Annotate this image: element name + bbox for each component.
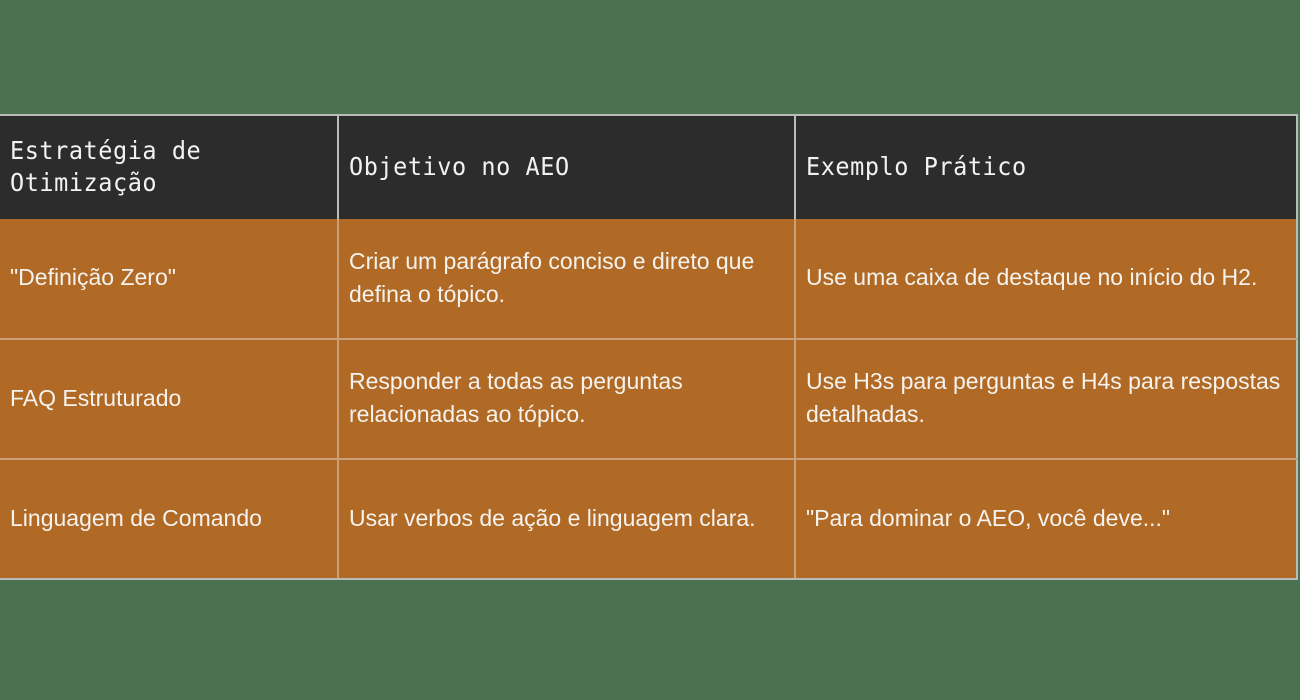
column-header-example: Exemplo Prático bbox=[795, 115, 1297, 219]
cell-strategy-text: FAQ Estruturado bbox=[10, 382, 325, 415]
cell-example: Use uma caixa de destaque no início do H… bbox=[795, 219, 1297, 339]
cell-objective: Usar verbos de ação e linguagem clara. bbox=[338, 459, 795, 579]
column-header-strategy: Estratégia de Otimização bbox=[0, 115, 338, 219]
cell-strategy-text: Linguagem de Comando bbox=[10, 502, 325, 535]
cell-example: Use H3s para perguntas e H4s para respos… bbox=[795, 339, 1297, 459]
column-header-strategy-label: Estratégia de Otimização bbox=[10, 135, 308, 199]
cell-objective: Responder a todas as perguntas relaciona… bbox=[338, 339, 795, 459]
cell-example-text: "Para dominar o AEO, você deve..." bbox=[806, 502, 1284, 535]
cell-objective-text: Criar um parágrafo conciso e direto que … bbox=[349, 245, 782, 310]
cell-strategy: "Definição Zero" bbox=[0, 219, 338, 339]
table-header-row: Estratégia de Otimização Objetivo no AEO… bbox=[0, 115, 1297, 219]
table-body: "Definição Zero" Criar um parágrafo conc… bbox=[0, 219, 1297, 579]
cell-strategy-text: "Definição Zero" bbox=[10, 261, 325, 294]
page-canvas: Estratégia de Otimização Objetivo no AEO… bbox=[0, 0, 1300, 700]
cell-objective: Criar um parágrafo conciso e direto que … bbox=[338, 219, 795, 339]
column-header-objective: Objetivo no AEO bbox=[338, 115, 795, 219]
table-row: "Definição Zero" Criar um parágrafo conc… bbox=[0, 219, 1297, 339]
column-header-objective-label: Objetivo no AEO bbox=[349, 151, 758, 183]
cell-strategy: Linguagem de Comando bbox=[0, 459, 338, 579]
column-header-example-label: Exemplo Prático bbox=[806, 151, 1257, 183]
cell-objective-text: Responder a todas as perguntas relaciona… bbox=[349, 365, 782, 430]
cell-example: "Para dominar o AEO, você deve..." bbox=[795, 459, 1297, 579]
cell-strategy: FAQ Estruturado bbox=[0, 339, 338, 459]
cell-example-text: Use uma caixa de destaque no início do H… bbox=[806, 261, 1284, 294]
cell-example-text: Use H3s para perguntas e H4s para respos… bbox=[806, 365, 1284, 430]
table-header: Estratégia de Otimização Objetivo no AEO… bbox=[0, 115, 1297, 219]
cell-objective-text: Usar verbos de ação e linguagem clara. bbox=[349, 502, 782, 535]
aeo-optimization-strategy-table: Estratégia de Otimização Objetivo no AEO… bbox=[0, 114, 1298, 580]
table-row: FAQ Estruturado Responder a todas as per… bbox=[0, 339, 1297, 459]
table-row: Linguagem de Comando Usar verbos de ação… bbox=[0, 459, 1297, 579]
